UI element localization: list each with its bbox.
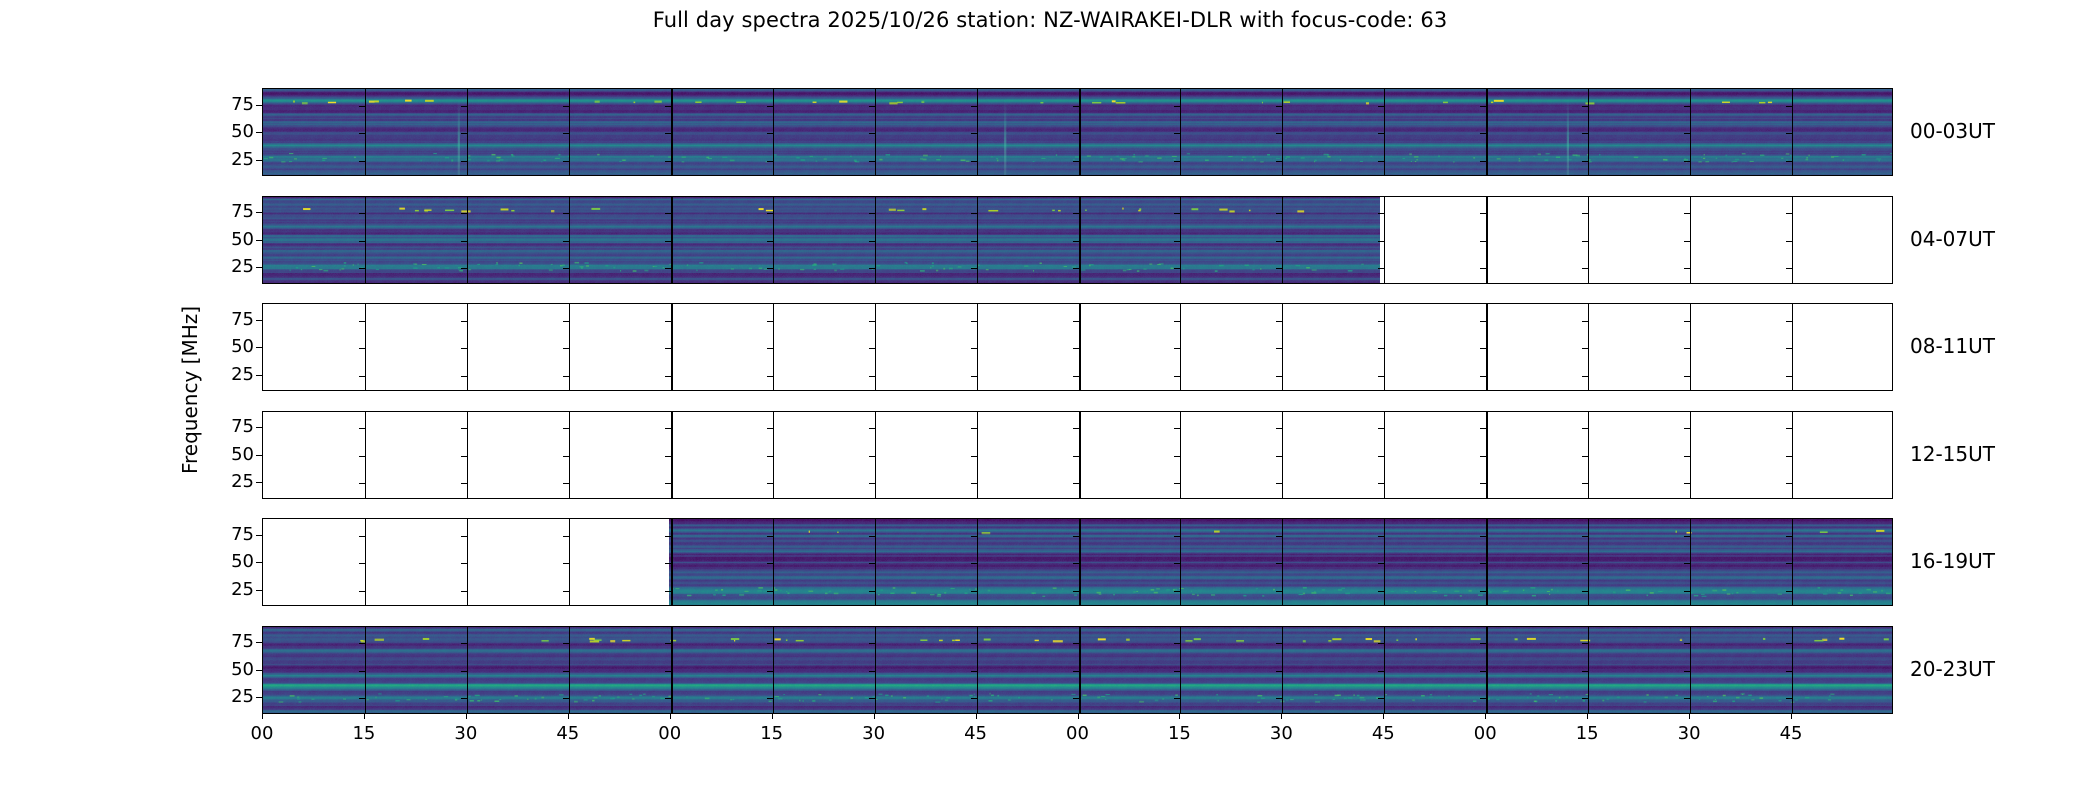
y-tick-mark-inner [563, 563, 569, 564]
y-tick-mark-inner [1684, 213, 1690, 214]
y-tick-mark-inner [359, 133, 365, 134]
y-tick-mark-inner [767, 348, 773, 349]
spectrogram-row-16-19ut[interactable] [262, 518, 1893, 606]
y-tick-mark-inner [767, 213, 773, 214]
y-tick-mark-inner [1582, 376, 1588, 377]
panel-divider [365, 89, 366, 175]
y-tick-mark-inner [461, 643, 467, 644]
panel-divider [1282, 627, 1283, 713]
y-tick-mark-inner [1378, 133, 1384, 134]
spectrogram-data-strip [669, 519, 1893, 605]
x-tick-label: 15 [1168, 723, 1191, 744]
panel-divider [1282, 304, 1283, 390]
row-time-label: 00-03UT [1910, 119, 1995, 143]
y-tick-mark-inner [1786, 643, 1792, 644]
y-tick-mark-inner [563, 161, 569, 162]
y-tick-mark-inner [1073, 456, 1079, 457]
panel-divider [1588, 412, 1589, 498]
y-tick-mark-inner [1582, 161, 1588, 162]
y-tick-mark-inner [971, 591, 977, 592]
x-tick-mark [670, 714, 671, 719]
y-tick-mark-inner [359, 161, 365, 162]
row-axes-box [262, 303, 1893, 391]
panel-divider [1792, 412, 1793, 498]
spectrogram-row-04-07ut[interactable] [262, 196, 1893, 284]
spectrogram-row-12-15ut[interactable] [262, 411, 1893, 499]
y-tick-mark-inner [767, 241, 773, 242]
y-tick-mark-inner [1786, 348, 1792, 349]
y-tick-mark-inner [1073, 213, 1079, 214]
y-tick-mark-inner [359, 376, 365, 377]
panel-divider [1486, 627, 1488, 713]
y-tick-label: 25 [198, 149, 254, 170]
y-tick-mark-inner [1480, 321, 1486, 322]
panel-divider [1792, 627, 1793, 713]
row-time-label: 12-15UT [1910, 442, 1995, 466]
x-tick-mark [976, 714, 977, 719]
panel-divider [875, 627, 876, 713]
x-tick-mark [1791, 714, 1792, 719]
x-tick-label: 00 [251, 723, 274, 744]
y-tick-mark-inner [461, 428, 467, 429]
y-tick-mark-inner [1684, 321, 1690, 322]
y-tick-mark-inner [665, 376, 671, 377]
y-tick-mark-inner [665, 161, 671, 162]
panel-divider [875, 519, 876, 605]
panel-divider [875, 304, 876, 390]
y-tick-mark-inner [563, 483, 569, 484]
y-tick-mark-inner [563, 376, 569, 377]
y-tick-label: 25 [198, 256, 254, 277]
y-tick-mark-inner [461, 563, 467, 564]
panel-divider [569, 304, 570, 390]
y-tick-mark-inner [1684, 161, 1690, 162]
y-tick-mark-inner [1276, 376, 1282, 377]
panel-divider [1282, 197, 1283, 283]
row-axes-box [262, 411, 1893, 499]
y-tick-label: 25 [198, 471, 254, 492]
y-tick-mark-inner [359, 213, 365, 214]
panel-divider [569, 412, 570, 498]
y-tick-mark-inner [563, 671, 569, 672]
panel-divider [365, 197, 366, 283]
y-tick-mark-inner [1174, 671, 1180, 672]
y-tick-label: 25 [198, 686, 254, 707]
x-tick-mark [1689, 714, 1690, 719]
x-tick-label: 15 [352, 723, 375, 744]
panel-divider [1486, 412, 1488, 498]
y-tick-mark-inner [1174, 241, 1180, 242]
y-tick-mark-inner [1276, 643, 1282, 644]
row-time-label: 08-11UT [1910, 334, 1995, 358]
y-tick-mark-inner [1174, 376, 1180, 377]
y-tick-mark-inner [1786, 591, 1792, 592]
panel-divider [467, 412, 468, 498]
panel-divider [977, 89, 978, 175]
y-tick-mark-inner [971, 133, 977, 134]
y-tick-mark-inner [665, 671, 671, 672]
y-tick-mark-inner [563, 133, 569, 134]
y-tick-mark-inner [665, 133, 671, 134]
panel-divider [773, 412, 774, 498]
y-tick-mark-inner [665, 428, 671, 429]
y-tick-mark-inner [1480, 376, 1486, 377]
y-tick-mark-inner [1276, 483, 1282, 484]
row-axes-box [262, 626, 1893, 714]
y-tick-mark-inner [665, 321, 671, 322]
panel-divider [1180, 627, 1181, 713]
page-title: Full day spectra 2025/10/26 station: NZ-… [0, 8, 2100, 32]
panel-divider [1180, 89, 1181, 175]
y-tick-mark-inner [1073, 428, 1079, 429]
y-tick-mark-inner [1786, 456, 1792, 457]
y-tick-mark-inner [1276, 321, 1282, 322]
y-tick-mark-inner [767, 591, 773, 592]
y-tick-mark-inner [665, 348, 671, 349]
y-tick-mark-inner [1174, 428, 1180, 429]
panel-divider [1384, 89, 1385, 175]
panel-divider [1486, 304, 1488, 390]
y-tick-mark-inner [359, 563, 365, 564]
y-tick-mark-inner [1174, 268, 1180, 269]
y-tick-mark-inner [971, 671, 977, 672]
y-tick-mark-inner [1684, 643, 1690, 644]
y-tick-mark-inner [767, 671, 773, 672]
x-tick-label: 45 [1372, 723, 1395, 744]
x-tick-mark [1485, 714, 1486, 719]
panel-divider [569, 89, 570, 175]
y-tick-mark-inner [461, 348, 467, 349]
y-tick-mark-inner [971, 348, 977, 349]
panel-divider [467, 519, 468, 605]
y-tick-mark-inner [1684, 698, 1690, 699]
x-tick-mark [1078, 714, 1079, 719]
panel-divider [1792, 89, 1793, 175]
y-tick-mark-inner [1073, 591, 1079, 592]
panel-divider [569, 627, 570, 713]
y-tick-mark-inner [665, 213, 671, 214]
y-tick-mark-inner [971, 213, 977, 214]
y-tick-label: 50 [198, 121, 254, 142]
y-tick-mark-inner [971, 643, 977, 644]
y-tick-mark-inner [1582, 241, 1588, 242]
y-tick-mark-inner [1480, 241, 1486, 242]
y-tick-mark-inner [1582, 483, 1588, 484]
y-tick-label: 50 [198, 444, 254, 465]
y-tick-mark-inner [1073, 483, 1079, 484]
y-tick-mark-inner [461, 321, 467, 322]
y-tick-mark-inner [1684, 348, 1690, 349]
spectrogram-data-strip [263, 197, 1380, 283]
panel-divider [977, 304, 978, 390]
panel-divider [1079, 197, 1081, 283]
y-tick-mark-inner [971, 483, 977, 484]
panel-divider [1690, 304, 1691, 390]
panel-divider [875, 412, 876, 498]
y-tick-mark-inner [1480, 671, 1486, 672]
y-tick-mark-inner [1480, 698, 1486, 699]
y-tick-mark-inner [563, 213, 569, 214]
panel-divider [569, 519, 570, 605]
y-tick-label: 50 [198, 659, 254, 680]
spectrogram-row-08-11ut[interactable] [262, 303, 1893, 391]
panel-divider [1588, 304, 1589, 390]
y-tick-mark-inner [1174, 161, 1180, 162]
panel-divider [977, 412, 978, 498]
y-tick-mark-inner [1073, 241, 1079, 242]
y-tick-mark-inner [665, 456, 671, 457]
panel-divider [365, 627, 366, 713]
y-tick-mark-inner [1073, 268, 1079, 269]
panel-divider [1384, 304, 1385, 390]
x-tick-mark [364, 714, 365, 719]
y-tick-mark-inner [563, 241, 569, 242]
y-tick-mark-inner [1378, 161, 1384, 162]
y-tick-mark-inner [1276, 428, 1282, 429]
y-tick-mark-inner [1480, 428, 1486, 429]
y-tick-mark-inner [563, 348, 569, 349]
y-tick-label: 25 [198, 579, 254, 600]
y-tick-mark-inner [461, 268, 467, 269]
y-tick-mark-inner [1378, 213, 1384, 214]
panel-divider [1588, 519, 1589, 605]
y-tick-mark-inner [563, 643, 569, 644]
y-tick-mark-inner [665, 268, 671, 269]
panel-divider [365, 412, 366, 498]
x-tick-mark [1281, 714, 1282, 719]
y-tick-mark-inner [1684, 106, 1690, 107]
y-tick-mark-inner [1276, 268, 1282, 269]
x-tick-mark [466, 714, 467, 719]
y-tick-mark-inner [971, 241, 977, 242]
y-tick-mark-inner [1786, 268, 1792, 269]
panel-divider [1180, 304, 1181, 390]
y-tick-mark-inner [767, 268, 773, 269]
panel-divider [1690, 197, 1691, 283]
panel-divider [1792, 197, 1793, 283]
y-tick-mark-inner [1684, 536, 1690, 537]
y-tick-mark-inner [359, 591, 365, 592]
y-tick-mark-inner [563, 591, 569, 592]
y-tick-mark-inner [1582, 563, 1588, 564]
y-tick-mark-inner [1174, 213, 1180, 214]
y-tick-mark-inner [1684, 591, 1690, 592]
y-tick-mark-inner [869, 106, 875, 107]
y-tick-mark-inner [1786, 376, 1792, 377]
panel-divider [1384, 412, 1385, 498]
y-tick-mark-inner [1378, 483, 1384, 484]
x-tick-label: 45 [1780, 723, 1803, 744]
y-tick-mark-inner [1276, 241, 1282, 242]
y-tick-mark-inner [1378, 321, 1384, 322]
y-tick-mark-inner [461, 536, 467, 537]
panel-divider [1180, 197, 1181, 283]
y-tick-mark-inner [359, 241, 365, 242]
y-tick-mark-inner [1174, 321, 1180, 322]
y-tick-mark-inner [1174, 536, 1180, 537]
y-tick-mark-inner [461, 698, 467, 699]
y-tick-mark-inner [1582, 643, 1588, 644]
y-tick-mark-inner [1582, 456, 1588, 457]
y-tick-mark-inner [665, 563, 671, 564]
y-tick-mark-inner [1786, 483, 1792, 484]
panel-divider [467, 197, 468, 283]
x-tick-mark [874, 714, 875, 719]
y-tick-mark-inner [665, 698, 671, 699]
y-tick-mark-inner [1073, 698, 1079, 699]
y-tick-mark-inner [971, 456, 977, 457]
panel-divider [1588, 627, 1589, 713]
y-tick-label: 75 [198, 524, 254, 545]
x-tick-label: 15 [1576, 723, 1599, 744]
x-tick-label: 00 [1474, 723, 1497, 744]
y-tick-mark-inner [1786, 213, 1792, 214]
y-tick-mark-inner [971, 268, 977, 269]
y-tick-mark-inner [1073, 671, 1079, 672]
y-tick-mark-inner [1276, 213, 1282, 214]
y-tick-mark-inner [1582, 591, 1588, 592]
y-tick-mark-inner [1684, 428, 1690, 429]
panel-divider [1079, 412, 1081, 498]
y-tick-mark-inner [869, 321, 875, 322]
y-tick-mark-inner [1684, 563, 1690, 564]
y-tick-mark-inner [359, 456, 365, 457]
y-tick-mark-inner [1174, 456, 1180, 457]
panel-divider [875, 197, 876, 283]
y-tick-label: 75 [198, 201, 254, 222]
y-tick-mark-inner [1073, 348, 1079, 349]
panel-divider [1486, 89, 1488, 175]
y-tick-mark-inner [1276, 536, 1282, 537]
spectrogram-row-00-03ut[interactable] [262, 88, 1893, 176]
y-tick-mark-inner [1684, 483, 1690, 484]
y-tick-mark-inner [461, 241, 467, 242]
x-tick-label: 00 [1066, 723, 1089, 744]
y-tick-mark-inner [869, 456, 875, 457]
row-time-label: 20-23UT [1910, 657, 1995, 681]
y-tick-mark-inner [971, 563, 977, 564]
panel-divider [1384, 197, 1385, 283]
y-tick-mark-inner [1378, 698, 1384, 699]
y-tick-mark-inner [869, 241, 875, 242]
y-tick-mark-inner [1684, 133, 1690, 134]
y-tick-label: 50 [198, 551, 254, 572]
y-tick-mark-inner [869, 671, 875, 672]
y-tick-mark-inner [1480, 591, 1486, 592]
y-tick-mark-inner [1073, 133, 1079, 134]
y-tick-mark-inner [1582, 698, 1588, 699]
y-tick-mark-inner [767, 456, 773, 457]
y-tick-mark-inner [359, 643, 365, 644]
y-tick-mark-inner [1582, 428, 1588, 429]
y-tick-mark-inner [665, 483, 671, 484]
y-tick-mark-inner [767, 321, 773, 322]
y-tick-mark-inner [1582, 133, 1588, 134]
y-tick-mark-inner [767, 106, 773, 107]
y-tick-mark-inner [1684, 671, 1690, 672]
x-tick-mark [262, 714, 263, 719]
panel-divider [1588, 89, 1589, 175]
y-tick-mark-inner [359, 106, 365, 107]
panel-divider [1282, 519, 1283, 605]
y-tick-mark-inner [1480, 106, 1486, 107]
y-tick-mark-inner [1073, 161, 1079, 162]
row-axes-box [262, 518, 1893, 606]
panel-divider [467, 304, 468, 390]
y-tick-label: 75 [198, 94, 254, 115]
y-tick-mark-inner [1073, 376, 1079, 377]
y-tick-mark-inner [1378, 428, 1384, 429]
y-tick-mark-inner [359, 483, 365, 484]
y-tick-mark-inner [461, 376, 467, 377]
x-tick-mark [1587, 714, 1588, 719]
y-tick-mark-inner [1174, 483, 1180, 484]
panel-divider [365, 304, 366, 390]
y-tick-mark-inner [461, 483, 467, 484]
y-tick-mark-inner [1582, 536, 1588, 537]
y-tick-mark-inner [359, 348, 365, 349]
panel-divider [1384, 627, 1385, 713]
panel-divider [1282, 412, 1283, 498]
x-tick-label: 30 [1678, 723, 1701, 744]
panel-divider [569, 197, 570, 283]
x-tick-label: 15 [760, 723, 783, 744]
y-tick-mark-inner [461, 213, 467, 214]
y-tick-label: 25 [198, 364, 254, 385]
y-tick-mark-inner [1786, 536, 1792, 537]
y-tick-mark-inner [1480, 536, 1486, 537]
y-tick-mark-inner [869, 213, 875, 214]
y-tick-mark-inner [869, 133, 875, 134]
y-tick-mark-inner [971, 536, 977, 537]
y-tick-mark-inner [1073, 563, 1079, 564]
y-tick-mark-inner [767, 563, 773, 564]
y-tick-mark-inner [1276, 456, 1282, 457]
y-tick-mark-inner [1582, 671, 1588, 672]
y-tick-mark-inner [767, 483, 773, 484]
panel-divider [1180, 519, 1181, 605]
y-tick-mark-inner [1684, 268, 1690, 269]
row-axes-box [262, 88, 1893, 176]
y-tick-mark-inner [971, 698, 977, 699]
y-tick-mark-inner [563, 106, 569, 107]
panel-divider [671, 519, 673, 605]
panel-divider [1079, 304, 1081, 390]
y-tick-mark-inner [1174, 106, 1180, 107]
y-tick-mark-inner [1480, 563, 1486, 564]
y-tick-mark-inner [359, 321, 365, 322]
y-tick-mark-inner [1684, 241, 1690, 242]
y-tick-label: 75 [198, 416, 254, 437]
y-tick-mark-inner [1582, 348, 1588, 349]
y-tick-mark-inner [1582, 321, 1588, 322]
x-tick-label: 45 [964, 723, 987, 744]
x-tick-label: 30 [1270, 723, 1293, 744]
panel-divider [1079, 627, 1081, 713]
panel-divider [773, 89, 774, 175]
panel-divider [671, 197, 673, 283]
y-tick-mark-inner [1174, 133, 1180, 134]
spectrogram-row-20-23ut[interactable] [262, 626, 1893, 714]
panel-divider [1282, 89, 1283, 175]
y-tick-mark-inner [767, 698, 773, 699]
panel-divider [671, 304, 673, 390]
y-tick-mark-inner [359, 268, 365, 269]
panel-divider [671, 89, 673, 175]
y-tick-mark-inner [1582, 268, 1588, 269]
y-tick-label: 50 [198, 336, 254, 357]
y-tick-mark-inner [563, 456, 569, 457]
